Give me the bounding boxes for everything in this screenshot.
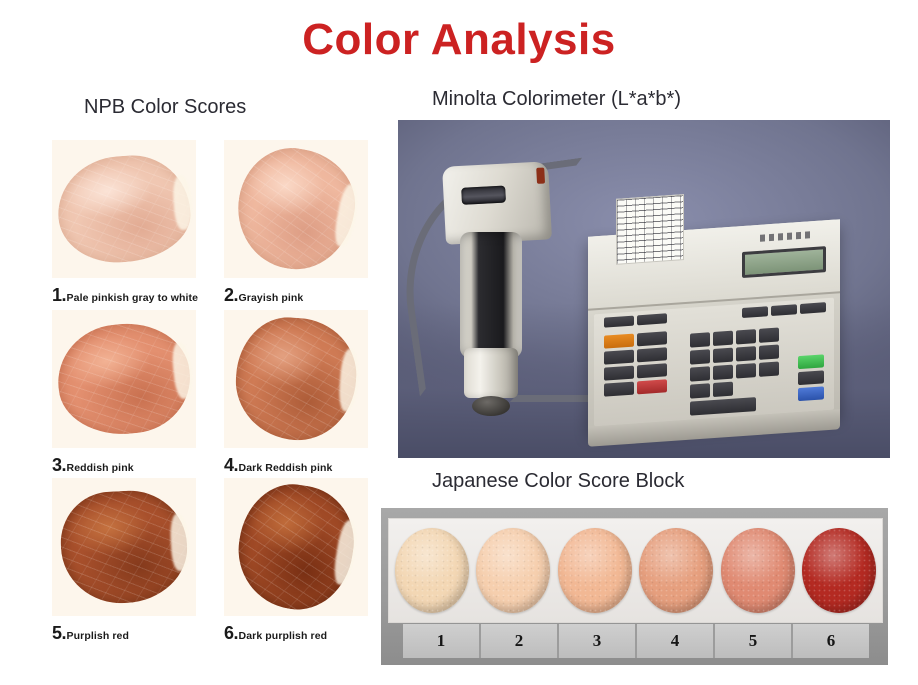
probe-lens-window [461,186,506,205]
top-right-key-group [742,302,826,318]
colorimeter-base-unit [588,219,840,433]
left-function-key-group [604,331,667,396]
npb-caption-1: 1.Pale pinkish gray to white [52,285,202,306]
panel-key [771,304,797,316]
panel-key [742,306,768,318]
keypad-key [713,348,733,363]
disc-label: 2 [515,631,524,651]
disc-label-card: 4 [637,624,715,658]
printer-paper-tape [616,194,684,265]
panel-key [637,313,667,325]
sample-description: Dark Reddish pink [239,462,333,474]
page-title: Color Analysis [0,16,918,64]
npb-color-scores-panel: 1.Pale pinkish gray to white 2.Grayish p… [52,140,392,650]
disc-label-card: 2 [481,624,559,658]
keypad-key [690,366,710,381]
top-left-key-group [604,313,667,327]
pork-chop-shape [230,478,362,616]
panel-key [798,370,824,385]
panel-key-red [637,379,667,394]
sample-number: 1 [52,285,62,305]
sample-number: 6 [224,623,234,643]
disc-label-card: 5 [715,624,793,658]
npb-sample-5: 5.Purplish red [52,478,202,644]
panel-key-blue [798,386,824,401]
keypad-key [713,331,733,346]
pork-chop-photo-3 [52,310,196,448]
panel-key [604,350,634,365]
pork-chop-shape [232,314,360,444]
npb-sample-4: 4.Dark Reddish pink [224,310,374,476]
disc-label-row: 1 2 3 4 5 6 [403,624,869,658]
panel-key-orange [604,334,634,349]
pork-chop-shape [53,317,196,440]
pork-chop-photo-2 [224,140,368,278]
numeric-keypad [690,327,779,415]
color-disc-3 [558,528,632,613]
panel-key [637,347,667,362]
panel-key [800,302,826,314]
keypad-key [690,383,710,398]
panel-key [604,366,634,381]
pork-chop-photo-4 [224,310,368,448]
disc-label-card: 6 [793,624,869,658]
probe-measuring-foot [472,396,510,416]
npb-sample-2: 2.Grayish pink [224,140,374,306]
color-disc-6 [802,528,876,613]
japanese-color-score-block-photo: 1 2 3 4 5 6 [381,508,888,665]
panel-key [637,331,667,346]
npb-caption-2: 2.Grayish pink [224,285,374,306]
probe-barrel [464,348,518,398]
sample-description: Purplish red [67,630,129,642]
sample-description: Grayish pink [239,292,304,304]
fat-cap [169,512,190,571]
control-panel [594,298,834,427]
right-function-key-group [798,354,824,401]
keypad-key [759,344,779,359]
disc-label: 6 [827,631,836,651]
keypad-key [713,365,733,380]
disc-label: 1 [437,631,446,651]
npb-caption-4: 4.Dark Reddish pink [224,455,374,476]
probe-release-tab [536,167,545,183]
panel-key [604,382,634,397]
npb-section-heading: NPB Color Scores [84,96,246,119]
pork-chop-photo-6 [224,478,368,616]
disc-row [395,526,876,615]
probe-grip [460,232,522,358]
disc-label-card: 1 [403,624,481,658]
sample-number: 4 [224,455,234,475]
sample-number: 3 [52,455,62,475]
sample-description: Dark purplish red [239,630,328,642]
panel-key-green [798,354,824,369]
disc-label: 5 [749,631,758,651]
brand-logo [760,231,814,242]
pork-chop-photo-5 [52,478,196,616]
npb-sample-1: 1.Pale pinkish gray to white [52,140,202,306]
keypad-key [690,332,710,347]
lcd-display [742,246,826,278]
keypad-key [690,349,710,364]
keypad-key [713,382,733,397]
panel-key [604,316,634,328]
sample-number: 5 [52,623,62,643]
npb-sample-3: 3.Reddish pink [52,310,202,476]
sample-number: 2 [224,285,234,305]
pork-chop-shape [228,140,363,278]
japanese-block-section-heading: Japanese Color Score Block [432,470,684,493]
disc-label: 4 [671,631,680,651]
npb-sample-6: 6.Dark purplish red [224,478,374,644]
npb-caption-3: 3.Reddish pink [52,455,202,476]
keypad-key [736,346,756,361]
color-disc-2 [476,528,550,613]
pork-chop-photo-1 [52,140,196,278]
disc-label-card: 3 [559,624,637,658]
disc-label: 3 [593,631,602,651]
color-disc-4 [639,528,713,613]
keypad-key [736,363,756,378]
sample-description: Reddish pink [67,462,134,474]
minolta-section-heading: Minolta Colorimeter (L*a*b*) [432,88,681,111]
keypad-key [759,327,779,342]
minolta-colorimeter-photo [398,120,890,458]
pork-chop-shape [54,152,193,267]
color-standard-strip [388,518,883,623]
npb-caption-6: 6.Dark purplish red [224,623,374,644]
color-disc-1 [395,528,469,613]
marbling-texture [54,152,193,267]
npb-caption-5: 5.Purplish red [52,623,202,644]
keypad-key [759,361,779,376]
keypad-key [736,329,756,344]
panel-key [637,363,667,378]
sample-description: Pale pinkish gray to white [67,292,199,304]
keypad-enter-key [690,397,756,416]
color-disc-5 [721,528,795,613]
pork-chop-shape [58,488,190,606]
